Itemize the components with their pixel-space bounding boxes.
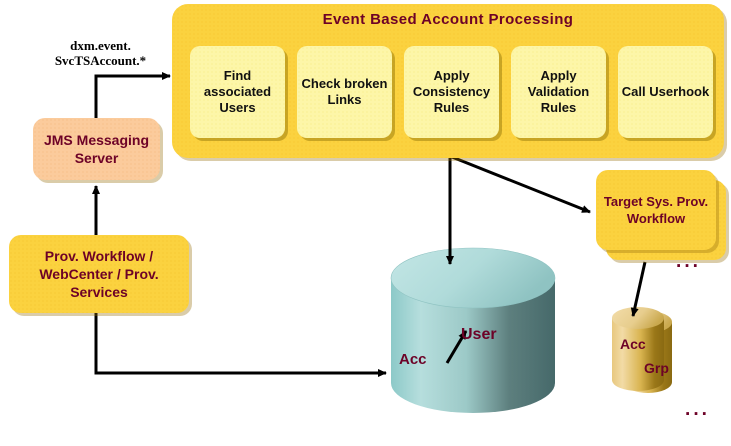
label-acc: Acc (620, 336, 646, 352)
node-prov-workflow-webcenter-services[interactable]: Prov. Workflow / WebCenter / Prov. Servi… (9, 235, 189, 313)
cylinder-stack-ellipsis: ··· (685, 410, 710, 420)
event-topic-line2: SvcTSAccount.* (38, 53, 163, 68)
step-check-broken-links[interactable]: Check broken Links (297, 46, 392, 138)
node-label: Target Sys. Prov. Workflow (596, 193, 716, 227)
step-label: Find associated Users (190, 68, 285, 116)
label-acc: Acc (399, 351, 427, 368)
label-user: User (461, 326, 497, 344)
step-label: Apply Validation Rules (511, 68, 606, 116)
event-processing-container: Event Based Account Processing Find asso… (172, 4, 724, 158)
node-jms-messaging-server[interactable]: JMS Messaging Server (33, 118, 160, 180)
step-find-associated-users[interactable]: Find associated Users (190, 46, 285, 138)
target-stack-ellipsis: ··· (676, 262, 701, 272)
step-label: Call Userhook (619, 84, 712, 100)
store-small-cylinder-labels: Acc Grp (612, 306, 684, 398)
arrow-processing-to-target-workflow (452, 157, 590, 212)
arrow-jms-to-processing (96, 76, 170, 118)
step-label: Check broken Links (297, 76, 392, 108)
node-target-sys-prov-workflow[interactable]: Target Sys. Prov. Workflow (596, 170, 716, 250)
step-apply-consistency-rules[interactable]: Apply Consistency Rules (404, 46, 499, 138)
store-main-cylinder-labels: Acc User (391, 256, 556, 426)
diagram-canvas: Event Based Account Processing Find asso… (0, 0, 731, 446)
label-grp: Grp (644, 360, 669, 376)
step-label: Apply Consistency Rules (404, 68, 499, 116)
event-topic-label: dxm.event. SvcTSAccount.* (38, 38, 163, 68)
page-title: Event Based Account Processing (172, 11, 724, 28)
step-call-userhook[interactable]: Call Userhook (618, 46, 713, 138)
event-topic-line1: dxm.event. (38, 38, 163, 53)
node-label: JMS Messaging Server (33, 131, 160, 167)
arrow-prov-to-main-cylinder (96, 313, 386, 373)
node-label: Prov. Workflow / WebCenter / Prov. Servi… (9, 247, 189, 301)
step-apply-validation-rules[interactable]: Apply Validation Rules (511, 46, 606, 138)
